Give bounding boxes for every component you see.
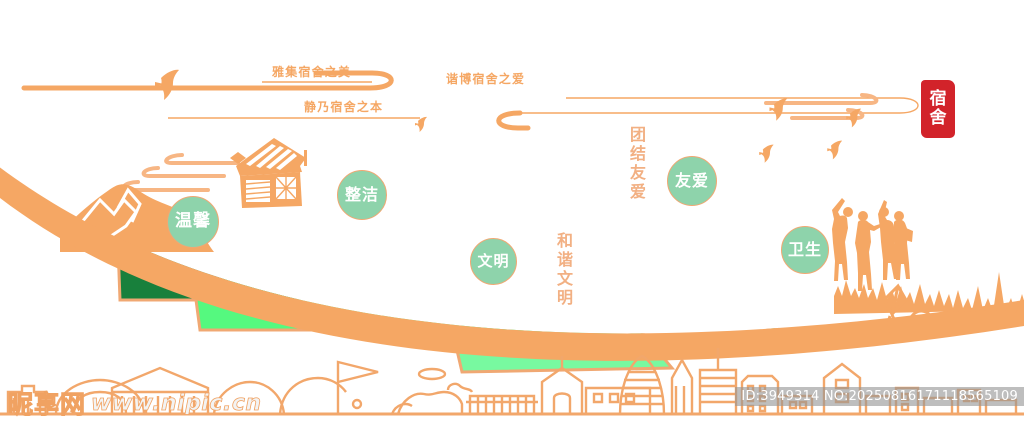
asset-id-label: ID:3949314 NO:20250816171118565109 xyxy=(735,387,1024,406)
watermark-url: www.nipic.cn xyxy=(91,391,262,416)
cloud-swirl-decoration xyxy=(124,155,238,190)
poster-artwork xyxy=(0,0,1024,427)
seal-char-1: 宿 xyxy=(930,90,947,109)
badge-wenxin[interactable]: 温馨 xyxy=(167,196,219,248)
pavilion-house-icon xyxy=(230,138,307,208)
watermark-site-name: 昵享网 xyxy=(8,385,86,421)
badge-youai[interactable]: 友爱 xyxy=(667,156,717,206)
cheering-people-silhouette xyxy=(832,198,913,291)
mountain-label-hexiewenming: 和谐文明 xyxy=(551,232,575,308)
ribbon-label-2: 谐博宿舍之爱 xyxy=(446,70,525,87)
badge-zhengjie[interactable]: 整洁 xyxy=(337,170,387,220)
mountain-label-tuanjieyouai: 团结友爱 xyxy=(624,126,648,202)
ribbon-label-1: 雅集宿舍之美 xyxy=(272,63,351,80)
badge-weisheng-label: 卫生 xyxy=(788,242,822,259)
badge-wenming[interactable]: 文明 xyxy=(470,238,517,285)
poster-canvas: 雅集宿舍之美 谐博宿舍之爱 静乃宿舍之本 干净整洁 团结友爱 和谐文明 温馨 整… xyxy=(0,0,1024,427)
ribbon-label-3: 静乃宿舍之本 xyxy=(304,98,383,115)
watermark: 昵享网 www.nipic.cn xyxy=(8,385,262,421)
seal-stamp: 宿 舍 xyxy=(921,80,955,138)
seal-char-2: 舍 xyxy=(930,109,947,128)
badge-wenming-label: 文明 xyxy=(477,254,509,270)
badge-weisheng[interactable]: 卫生 xyxy=(781,226,829,274)
badge-zhengjie-label: 整洁 xyxy=(345,187,379,204)
badge-wenxin-label: 温馨 xyxy=(175,213,211,231)
badge-youai-label: 友爱 xyxy=(675,173,709,190)
